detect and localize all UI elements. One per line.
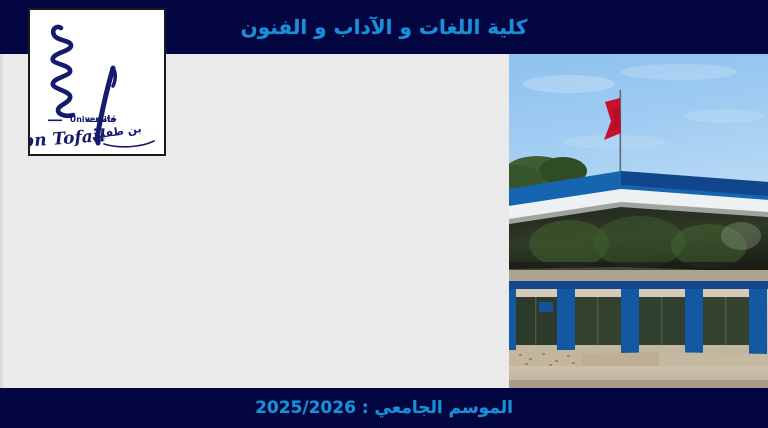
academic-year-label: الموسم الجامعي : 2025/2026 <box>0 388 768 428</box>
presentation-slide: كلية اللغات و الآداب و الفنون <box>0 0 768 428</box>
universite-ibn-tofail-logo: جامعــة بن طفيل Université Ibn Tofaïl <box>28 8 166 156</box>
logo-graphic: جامعــة بن طفيل Université Ibn Tofaïl <box>30 10 164 154</box>
campus-building-photo <box>509 54 768 388</box>
left-edge-strip <box>0 54 3 388</box>
logo-latin-line-1: Université <box>70 114 117 124</box>
building-photo-graphic <box>509 54 768 388</box>
